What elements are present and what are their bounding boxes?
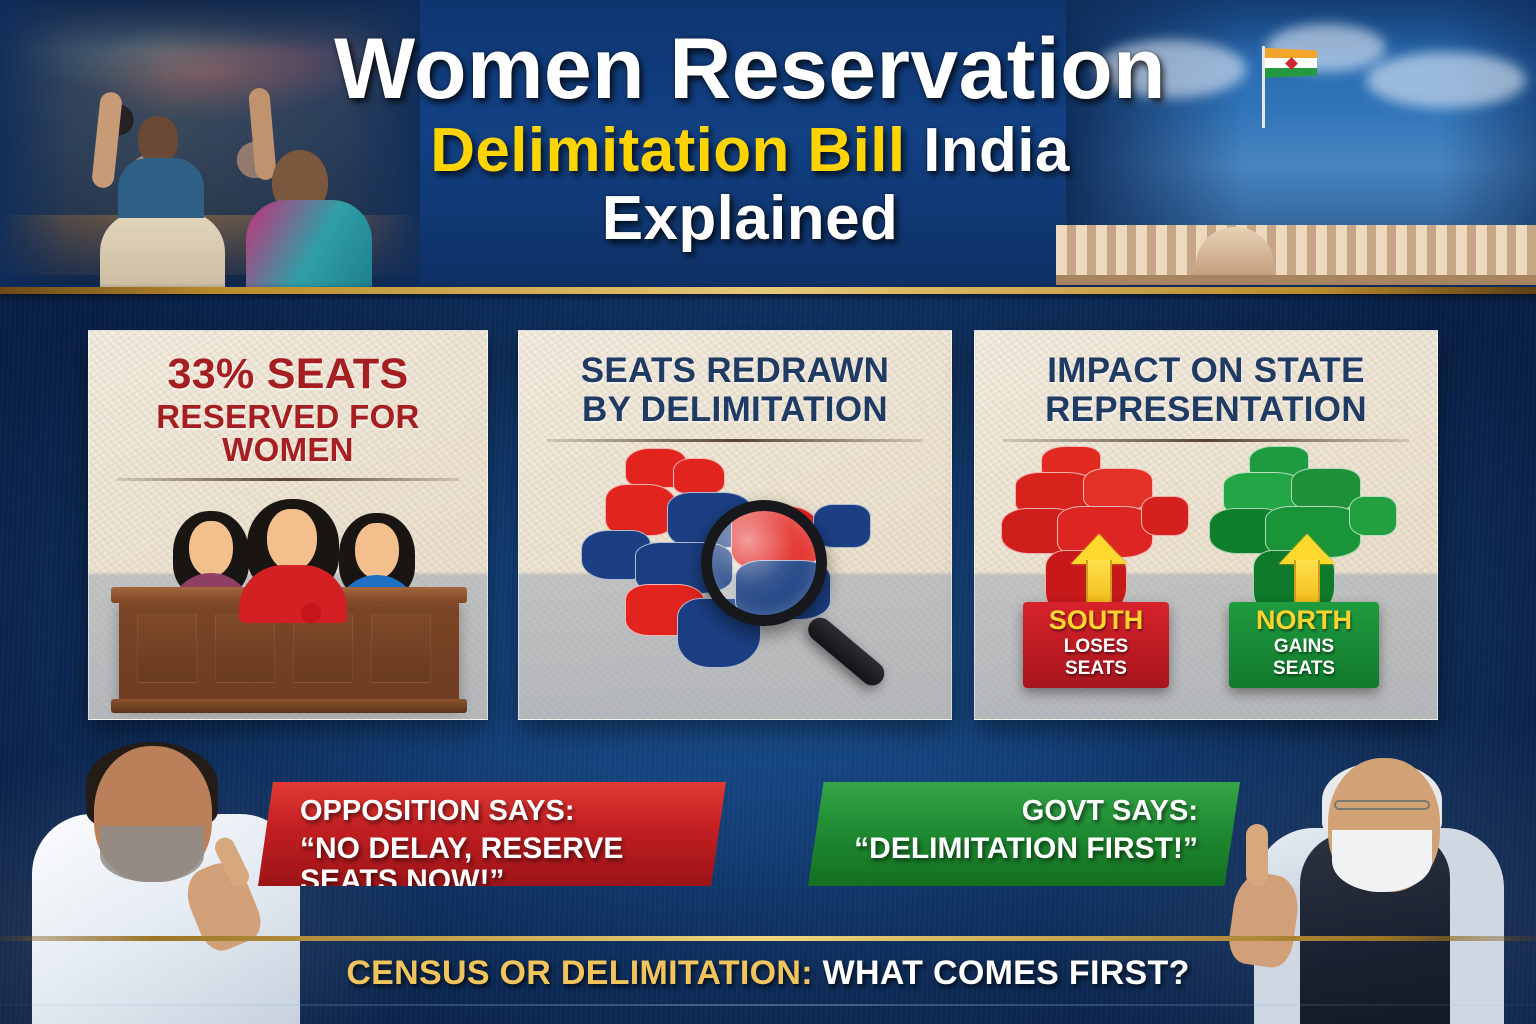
map-region-northeast bbox=[1141, 496, 1189, 536]
card1-title-line2: RESERVED FOR WOMEN bbox=[103, 400, 473, 466]
header-title: Women Reservation Delimitation Bill Indi… bbox=[300, 26, 1200, 250]
banner-govt-line1: GOVT SAYS: bbox=[834, 796, 1214, 826]
card2-illustration bbox=[519, 442, 951, 674]
card2-title-line2: BY DELIMITATION bbox=[533, 392, 937, 427]
desk-panel bbox=[293, 613, 353, 683]
cards-row: 33% SEATS RESERVED FOR WOMEN bbox=[0, 330, 1536, 722]
map-region-northeast bbox=[1349, 496, 1397, 536]
tag-south-title: SOUTH bbox=[1037, 607, 1155, 634]
desk-panel bbox=[137, 613, 197, 683]
card1-title-line1: 33% SEATS bbox=[103, 353, 473, 396]
tag-south-sub: LOSES SEATS bbox=[1037, 636, 1155, 680]
title-line-1: Women Reservation bbox=[300, 26, 1200, 112]
eyeglasses-icon bbox=[1334, 800, 1430, 810]
index-finger bbox=[1246, 824, 1268, 886]
mp-head bbox=[138, 116, 178, 164]
desk-panel bbox=[371, 613, 431, 683]
desk-panel bbox=[215, 613, 275, 683]
title-line-2: Delimitation Bill India bbox=[300, 120, 1200, 182]
card3-title-line2: REPRESENTATION bbox=[989, 392, 1423, 427]
title-line-2-rest: India bbox=[905, 116, 1069, 185]
footer-divider-bottom bbox=[0, 1004, 1536, 1006]
card1-title: 33% SEATS RESERVED FOR WOMEN bbox=[89, 331, 487, 466]
card3-title-line1: IMPACT ON STATE bbox=[989, 353, 1423, 388]
banner-govt-says[interactable]: GOVT SAYS: “DELIMITATION FIRST!” bbox=[808, 782, 1240, 886]
card1-illustration bbox=[89, 481, 487, 713]
card-state-representation[interactable]: IMPACT ON STATE REPRESENTATION bbox=[974, 330, 1438, 720]
face bbox=[355, 523, 399, 579]
tag-south-loses-seats: SOUTH LOSES SEATS bbox=[1023, 602, 1169, 688]
title-highlight: Delimitation Bill bbox=[430, 116, 905, 185]
sari-knot bbox=[301, 603, 321, 623]
footer-question: CENSUS OR DELIMITATION: WHAT COMES FIRST… bbox=[0, 946, 1536, 1000]
tag-north-gains-seats: NORTH GAINS SEATS bbox=[1229, 602, 1379, 688]
woman-figure-center bbox=[237, 499, 349, 621]
magnifying-glass-icon bbox=[701, 500, 827, 626]
footer-divider-top bbox=[0, 936, 1536, 941]
header-band: Women Reservation Delimitation Bill Indi… bbox=[0, 0, 1536, 292]
card-women-reservation[interactable]: 33% SEATS RESERVED FOR WOMEN bbox=[88, 330, 488, 720]
header-divider bbox=[0, 287, 1536, 294]
raised-arm bbox=[248, 87, 277, 180]
title-line-3: Explained bbox=[300, 188, 1200, 250]
arrow-shaft bbox=[1086, 560, 1112, 608]
banner-govt-line2: “DELIMITATION FIRST!” bbox=[834, 833, 1214, 865]
footer-text-white: WHAT COMES FIRST? bbox=[813, 954, 1190, 992]
face bbox=[267, 509, 317, 571]
white-beard bbox=[1332, 830, 1432, 892]
mp-body bbox=[118, 158, 204, 218]
card3-illustration: SOUTH LOSES SEATS bbox=[975, 442, 1437, 674]
infographic-canvas: Women Reservation Delimitation Bill Indi… bbox=[0, 0, 1536, 1024]
banner-opposition-line2: “NO DELAY, RESERVE SEATS NOW!” bbox=[284, 833, 700, 896]
raised-arm bbox=[91, 91, 123, 189]
footer-text-gold: CENSUS OR DELIMITATION: bbox=[346, 954, 813, 992]
arrow-up-icon-north bbox=[1279, 534, 1335, 608]
mp-body bbox=[100, 212, 225, 290]
card-seats-redrawn[interactable]: SEATS REDRAWN BY DELIMITATION bbox=[518, 330, 952, 720]
beard bbox=[100, 826, 204, 882]
indian-flag-icon bbox=[1265, 48, 1317, 78]
banner-opposition-line1: OPPOSITION SAYS: bbox=[284, 796, 700, 826]
cloud bbox=[1366, 52, 1526, 108]
arrow-shaft bbox=[1294, 560, 1320, 608]
banner-opposition-says[interactable]: OPPOSITION SAYS: “NO DELAY, RESERVE SEAT… bbox=[258, 782, 726, 886]
state-north bbox=[673, 458, 725, 494]
card2-title: SEATS REDRAWN BY DELIMITATION bbox=[519, 331, 951, 427]
flag-emblem bbox=[1285, 57, 1298, 70]
face bbox=[189, 521, 233, 577]
tag-north-sub: GAINS SEATS bbox=[1243, 636, 1365, 680]
tag-north-title: NORTH bbox=[1243, 607, 1365, 634]
parliament-plinth bbox=[1056, 275, 1536, 285]
card2-title-line1: SEATS REDRAWN bbox=[533, 353, 937, 388]
card3-title: IMPACT ON STATE REPRESENTATION bbox=[975, 331, 1437, 427]
arrow-up-icon-south bbox=[1071, 534, 1127, 608]
